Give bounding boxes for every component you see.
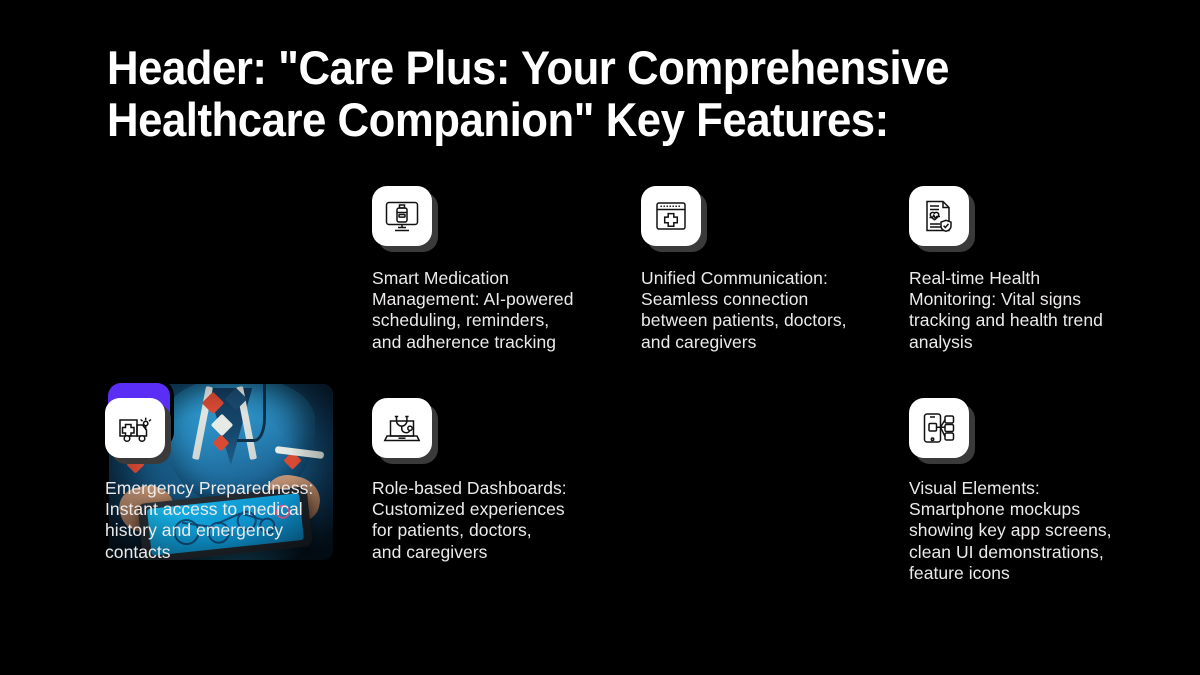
feature-caption: Role-based Dashboards: Customized experi… xyxy=(372,478,607,563)
slide-canvas: Header: "Care Plus: Your Comprehensive H… xyxy=(0,0,1200,675)
icon-tile-wrap xyxy=(105,398,171,464)
laptop-stethoscope-icon xyxy=(372,398,432,458)
feature-role-based-dashboards: Role-based Dashboards: Customized experi… xyxy=(372,398,622,563)
smartphone-screens-icon xyxy=(909,398,969,458)
feature-visual-elements: Visual Elements: Smartphone mockups show… xyxy=(909,398,1159,584)
icon-tile-wrap xyxy=(372,186,438,252)
feature-caption: Real-time Health Monitoring: Vital signs… xyxy=(909,268,1144,353)
feature-caption: Unified Communication: Seamless connecti… xyxy=(641,268,876,353)
icon-tile-wrap xyxy=(372,398,438,464)
medication-monitor-icon xyxy=(372,186,432,246)
page-title: Header: "Care Plus: Your Comprehensive H… xyxy=(107,42,1065,146)
icon-tile-wrap xyxy=(641,186,707,252)
window-medical-cross-icon xyxy=(641,186,701,246)
icon-tile-wrap xyxy=(909,186,975,252)
feature-caption: Emergency Preparedness: Instant access t… xyxy=(105,478,340,563)
ambulance-icon xyxy=(105,398,165,458)
features-grid: Smart Medication Management: AI-powered … xyxy=(0,186,1200,613)
feature-caption: Visual Elements: Smartphone mockups show… xyxy=(909,478,1144,584)
feature-unified-communication: Unified Communication: Seamless connecti… xyxy=(641,186,891,353)
feature-smart-medication-management: Smart Medication Management: AI-powered … xyxy=(372,186,622,353)
features-row-2: Emergency Preparedness: Instant access t… xyxy=(0,398,1200,613)
icon-tile-wrap xyxy=(909,398,975,464)
feature-real-time-health-monitoring: Real-time Health Monitoring: Vital signs… xyxy=(909,186,1159,353)
health-report-shield-icon xyxy=(909,186,969,246)
features-row-1: Smart Medication Management: AI-powered … xyxy=(0,186,1200,398)
feature-caption: Smart Medication Management: AI-powered … xyxy=(372,268,607,353)
feature-emergency-preparedness: Emergency Preparedness: Instant access t… xyxy=(105,398,355,563)
